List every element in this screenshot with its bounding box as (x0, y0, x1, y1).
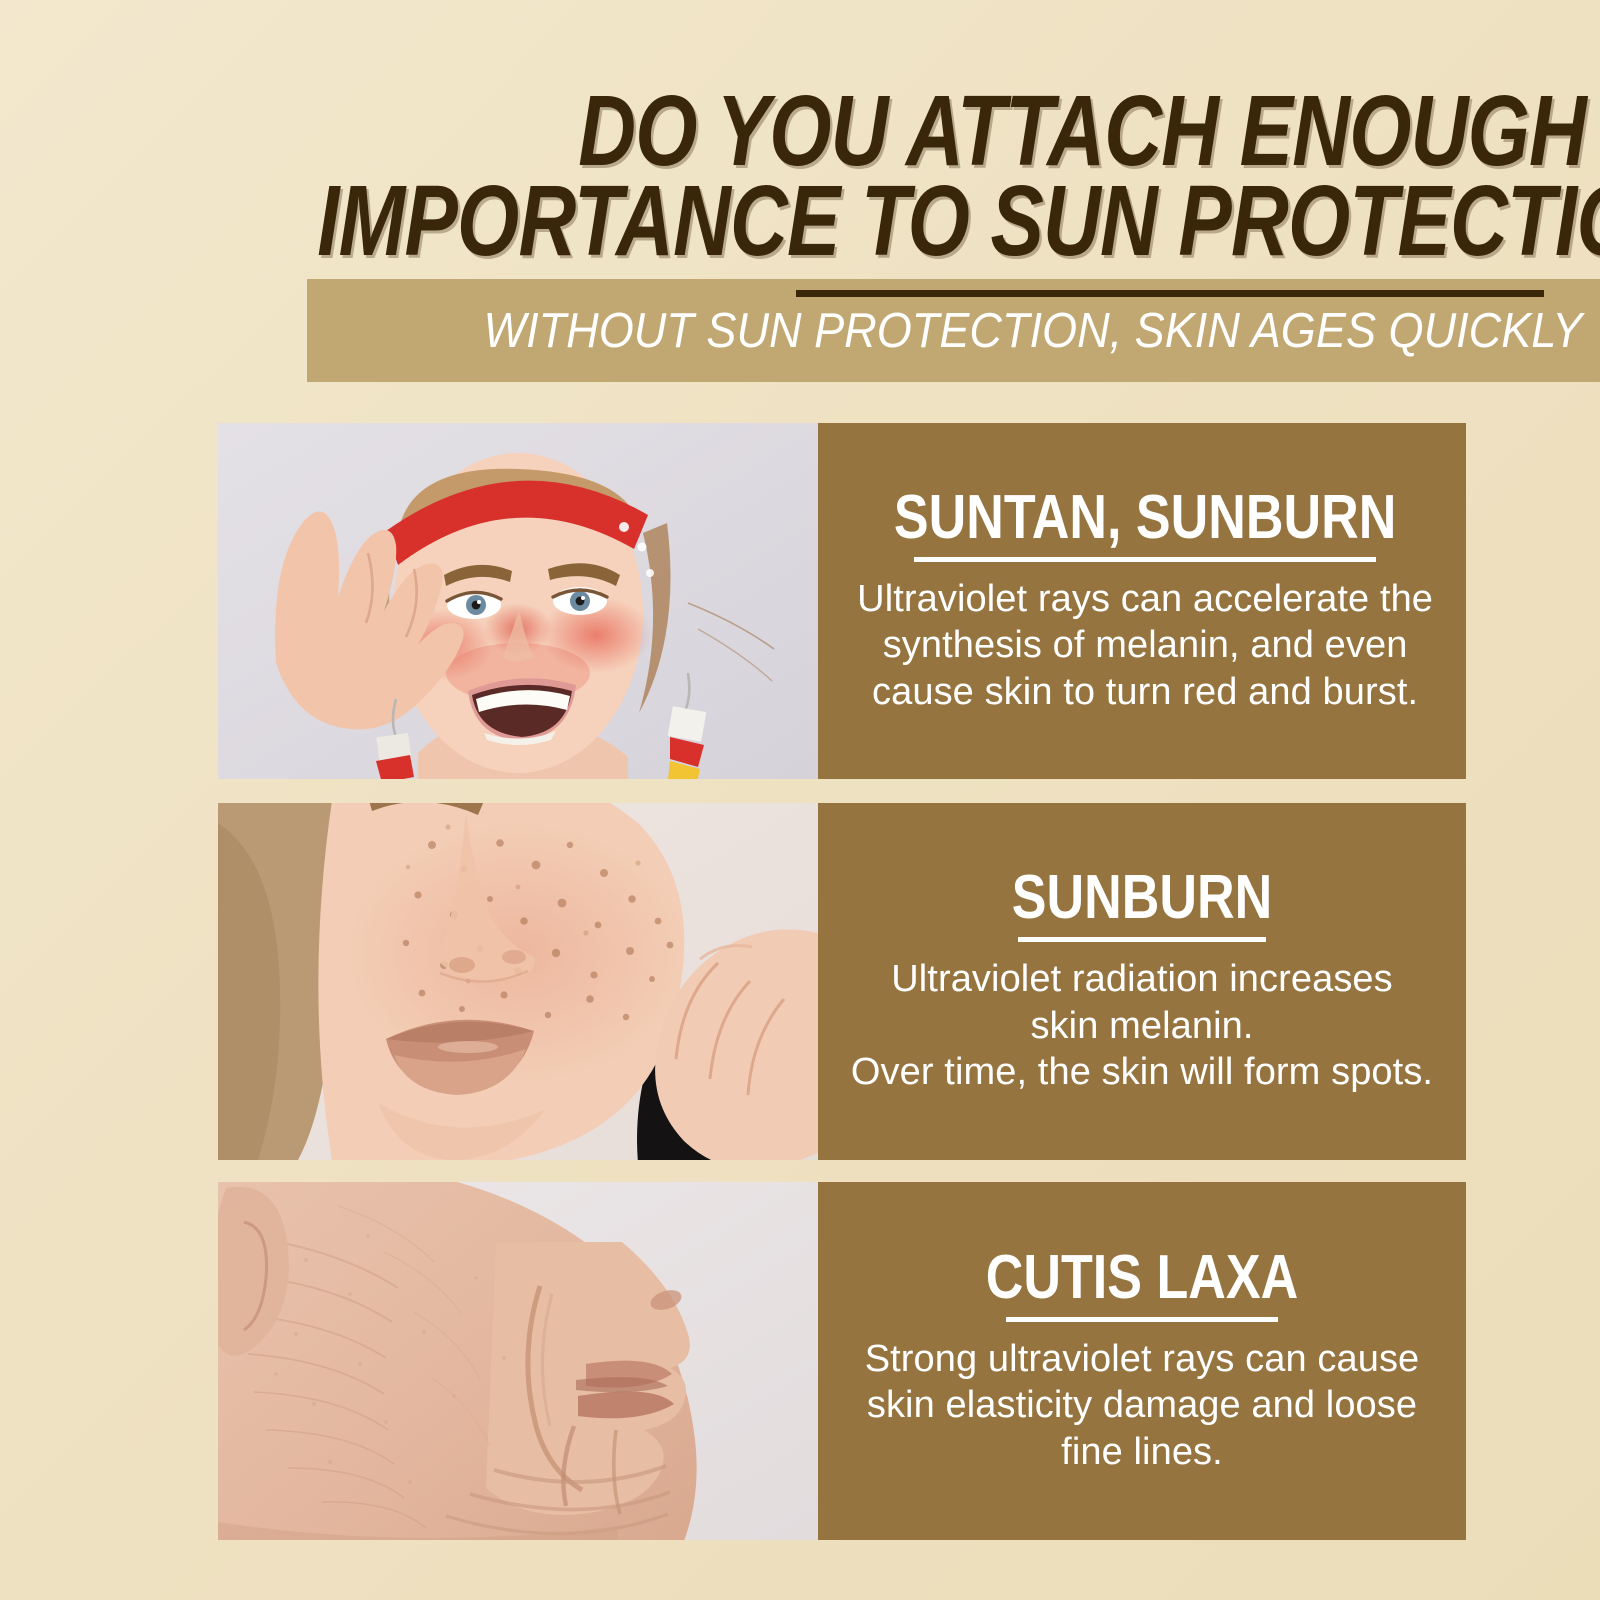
card-text-block: CUTIS LAXA Strong ultraviolet rays can c… (818, 1182, 1466, 1540)
card-photo-suntan (218, 423, 818, 779)
card-text-block: SUNTAN, SUNBURN Ultraviolet rays can acc… (818, 423, 1466, 779)
headline-line-1: DO YOU ATTACH ENOUGH (317, 84, 1586, 178)
info-card: SUNBURN Ultraviolet radiation increases … (218, 803, 1466, 1160)
card-title: CUTIS LAXA (956, 1247, 1328, 1309)
card-text-block: SUNBURN Ultraviolet radiation increases … (818, 803, 1466, 1160)
sun-spots-woman-illustration (218, 803, 818, 1160)
card-title-underline (1018, 937, 1266, 942)
card-photo-sunspots (218, 803, 818, 1160)
subtitle-bar: WITHOUT SUN PROTECTION, SKIN AGES QUICKL… (307, 279, 1600, 382)
subtitle-text: WITHOUT SUN PROTECTION, SKIN AGES QUICKL… (307, 307, 1582, 356)
sunburned-woman-illustration (218, 423, 818, 779)
card-title-underline (914, 557, 1376, 562)
headline-line-2: IMPORTANCE TO SUN PROTECTION? (317, 174, 1586, 268)
info-card: CUTIS LAXA Strong ultraviolet rays can c… (218, 1182, 1466, 1540)
subtitle-divider-rule (796, 290, 1544, 297)
card-title-label: SUNTAN, SUNBURN (894, 487, 1396, 549)
card-body: Ultraviolet radiation increases skin mel… (851, 956, 1433, 1095)
infographic-poster: DO YOU ATTACH ENOUGH IMPORTANCE TO SUN P… (0, 0, 1600, 1600)
page-title: DO YOU ATTACH ENOUGH IMPORTANCE TO SUN P… (0, 84, 1600, 268)
card-title: SUNTAN, SUNBURN (846, 487, 1444, 549)
card-photo-cutis-laxa (218, 1182, 818, 1540)
card-title: SUNBURN (987, 867, 1297, 929)
card-title-label: SUNBURN (1012, 867, 1272, 929)
card-body: Strong ultraviolet rays can cause skin e… (865, 1336, 1420, 1475)
subtitle-label: WITHOUT SUN PROTECTION, SKIN AGES QUICKL… (483, 307, 1582, 356)
card-title-underline (1006, 1317, 1278, 1322)
info-card: SUNTAN, SUNBURN Ultraviolet rays can acc… (218, 423, 1466, 779)
card-body: Ultraviolet rays can accelerate the synt… (857, 576, 1433, 715)
aging-skin-illustration (218, 1182, 818, 1540)
card-title-label: CUTIS LAXA (986, 1247, 1298, 1309)
